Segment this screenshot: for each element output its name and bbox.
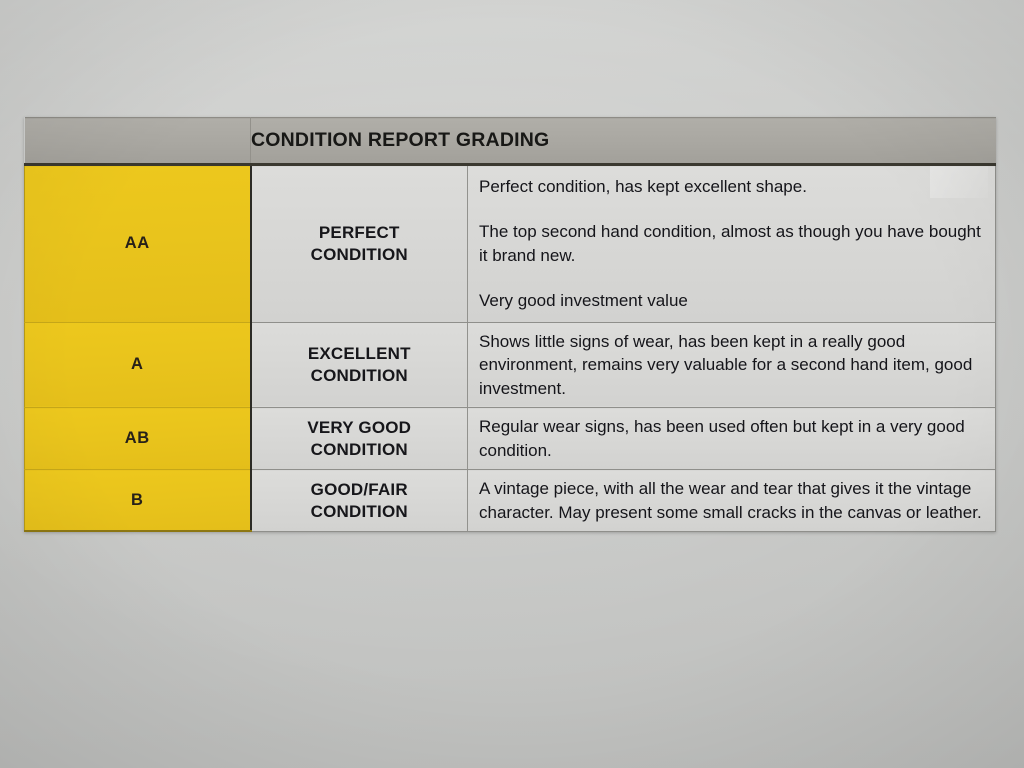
table-header-row: CONDITION REPORT GRADING (25, 118, 996, 165)
description-paragraph: Perfect condition, has kept excellent sh… (479, 175, 983, 198)
grade-label-aa: PERFECT CONDITION (251, 165, 468, 323)
grade-label-line-1: GOOD/FAIR (311, 480, 408, 499)
grade-code-b: B (25, 470, 251, 532)
grade-label-line-2: CONDITION (311, 366, 408, 385)
grade-code-ab: AB (25, 408, 251, 470)
grade-description-a: Shows little signs of wear, has been kep… (468, 322, 996, 407)
grade-label-line-1: VERY GOOD (307, 418, 411, 437)
grade-description-ab: Regular wear signs, has been used often … (468, 408, 996, 470)
grade-label-line-1: EXCELLENT (308, 344, 411, 363)
grade-label-line-2: CONDITION (311, 440, 408, 459)
grade-label-line-2: CONDITION (311, 502, 408, 521)
header-spacer-cell (25, 118, 251, 165)
grade-code-aa: AA (25, 165, 251, 323)
grade-description-b: A vintage piece, with all the wear and t… (468, 470, 996, 532)
description-paragraph: The top second hand condition, almost as… (479, 220, 983, 267)
table-row: A EXCELLENT CONDITION Shows little signs… (25, 322, 996, 407)
page-title: CONDITION REPORT GRADING (251, 118, 996, 165)
table-row: AA PERFECT CONDITION Perfect condition, … (25, 165, 996, 323)
grade-label-a: EXCELLENT CONDITION (251, 322, 468, 407)
condition-report-grading-table: CONDITION REPORT GRADING AA PERFECT COND… (24, 117, 996, 532)
grade-label-line-1: PERFECT (319, 223, 400, 242)
description-paragraph: Regular wear signs, has been used often … (479, 415, 983, 462)
grade-description-aa: Perfect condition, has kept excellent sh… (468, 165, 996, 323)
description-paragraph: Shows little signs of wear, has been kep… (479, 330, 983, 400)
grade-code-a: A (25, 322, 251, 407)
table-row: B GOOD/FAIR CONDITION A vintage piece, w… (25, 470, 996, 532)
grade-label-ab: VERY GOOD CONDITION (251, 408, 468, 470)
table-row: AB VERY GOOD CONDITION Regular wear sign… (25, 408, 996, 470)
description-paragraph: A vintage piece, with all the wear and t… (479, 477, 983, 524)
grade-label-b: GOOD/FAIR CONDITION (251, 470, 468, 532)
grade-label-line-2: CONDITION (311, 245, 408, 264)
condition-report-grading-table-wrapper: CONDITION REPORT GRADING AA PERFECT COND… (24, 117, 995, 532)
description-paragraph: Very good investment value (479, 289, 983, 312)
